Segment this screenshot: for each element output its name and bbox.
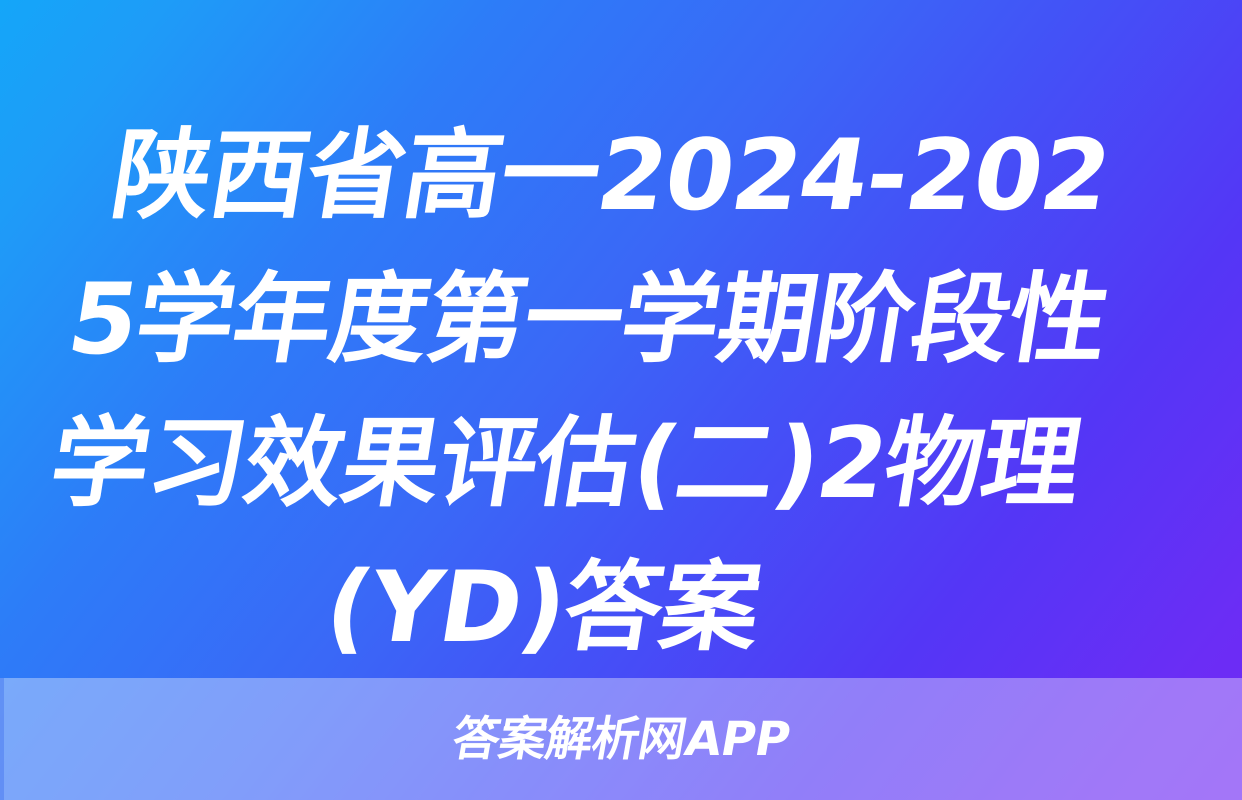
- page-title: 陕西省高一2024-2025学年度第一学期阶段性学习效果评估(二)2物理(YD)…: [95, 104, 1150, 680]
- watermark: 答案解析网APP: [0, 678, 1242, 800]
- page-title-text: 陕西省高一2024-2025学年度第一学期阶段性学习效果评估(二)2物理(YD)…: [4, 104, 1150, 680]
- watermark-text: 答案解析网APP: [449, 716, 794, 763]
- watermark-band: 答案解析网APP: [0, 678, 1242, 800]
- poster-canvas: 陕西省高一2024-2025学年度第一学期阶段性学习效果评估(二)2物理(YD)…: [0, 0, 1242, 800]
